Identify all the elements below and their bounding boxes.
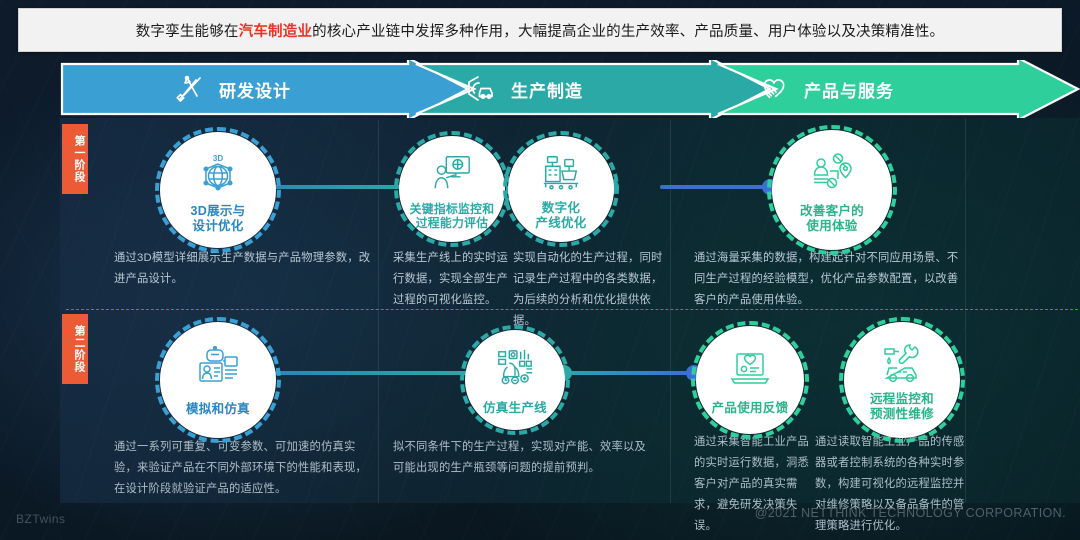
node-r1-2[interactable]: 关键指标监控和 过程能力评估 [399,136,505,242]
node-r2-2-caption-line1: 仿真生产线 [483,401,547,416]
node-r2-1[interactable]: 模拟和仿真 [160,322,276,438]
desc-r2-4: 通过读取智能工业产品的传感器或者控制系统的各种实时参数，构建可视化的远程监控并对… [815,432,965,536]
node-r2-3-caption-line1: 产品使用反馈 [712,401,789,416]
slide-canvas: 数字孪生能够在汽车制造业的核心产业链中发挥多种作用，大幅提高企业的生产效率、产品… [0,0,1080,540]
svg-text:3D: 3D [213,154,223,163]
desc-r1-3: 实现自动化的生产过程，同时记录生产过程中的各类数据，为后续的分析和优化提供依据。 [513,248,663,332]
footer-left-brand: BZTwins [16,512,66,526]
node-r1-2-caption-line1: 关键指标监控和 [410,202,495,216]
node-r1-3-caption-line2: 产线优化 [535,216,586,231]
car-maintenance-icon [879,342,925,389]
node-r2-4[interactable]: 远程监控和 预测性维修 [844,322,960,438]
node-r1-1-caption-line2: 设计优化 [191,219,246,234]
3d-globe-icon: 3D [195,150,241,201]
headline-text: 数字孪生能够在汽车制造业的核心产业链中发挥多种作用，大幅提高企业的生产效率、产品… [136,20,945,41]
node-r1-3-caption-line1: 数字化 [535,201,586,216]
factory-line-icon [540,151,582,198]
desc-r2-1: 通过一系列可重复、可变参数、可加速的仿真实验，来验证产品在不同外部环境下的性能和… [114,437,370,500]
desc-r1-1: 通过3D模型详细展示生产数据与产品物理参数，改进产品设计。 [114,248,372,290]
arrow-shapes [60,60,1080,118]
node-r1-4[interactable]: 改善客户的 使用体验 [772,130,892,250]
desc-r2-2: 拟不同条件下的生产过程，实现对产能、效率以及可能出现的生产瓶颈等问题的提前预判。 [393,437,655,479]
headline-highlight: 汽车制造业 [239,24,313,40]
node-r2-1-caption-line1: 模拟和仿真 [186,402,250,417]
laptop-feedback-icon [728,348,772,393]
node-r1-4-caption-line1: 改善客户的 [800,204,864,219]
column-separator-1 [378,120,379,503]
column-separator-2 [670,120,671,503]
node-r1-1-caption-line1: 3D展示与 [191,204,246,219]
desc-r1-2: 采集生产线上的实时运行数据，实现全部生产过程的可视化监控。 [393,248,511,311]
monitor-analytics-icon [431,152,473,199]
robot-arm-icon [494,348,536,393]
stage-tab-1: 第一阶段 [62,124,88,194]
node-r2-3[interactable]: 产品使用反馈 [696,326,804,434]
node-r1-2-caption-line2: 过程能力评估 [410,216,495,230]
node-r1-3[interactable]: 数字化 产线优化 [508,136,614,242]
headline-post: 的核心产业链中发挥多种作用，大幅提高企业的生产效率、产品质量、用户体验以及决策精… [312,24,944,40]
desc-r2-3: 通过采集智能工业产品的实时运行数据，洞悉客户对产品的真实需求，避免研发决策失误。 [694,432,812,536]
footer-copyright: @2021 NETTHINK TECHNOLOGY CORPORATION. [755,506,1066,520]
headline-banner: 数字孪生能够在汽车制造业的核心产业链中发挥多种作用，大幅提高企业的生产效率、产品… [18,8,1062,52]
desc-r1-4: 通过海量采集的数据，构建起针对不同应用场景、不同生产过程的经验模型，优化产品参数… [694,248,966,311]
node-r2-4-caption-line2: 预测性维修 [870,407,934,422]
customer-journey-icon [808,150,856,201]
node-r2-4-caption-line1: 远程监控和 [870,392,934,407]
node-r2-2[interactable]: 仿真生产线 [465,330,565,430]
simulation-screen-icon [195,346,241,393]
headline-pre: 数字孪生能够在 [136,24,239,40]
node-r1-1[interactable]: 3D 3D展示与 设计优化 [160,132,276,248]
stage-tab-2: 第二阶段 [62,314,88,384]
node-r1-4-caption-line2: 使用体验 [800,219,864,234]
process-arrow-bar: 研发设计 生产制造 [60,60,1080,118]
